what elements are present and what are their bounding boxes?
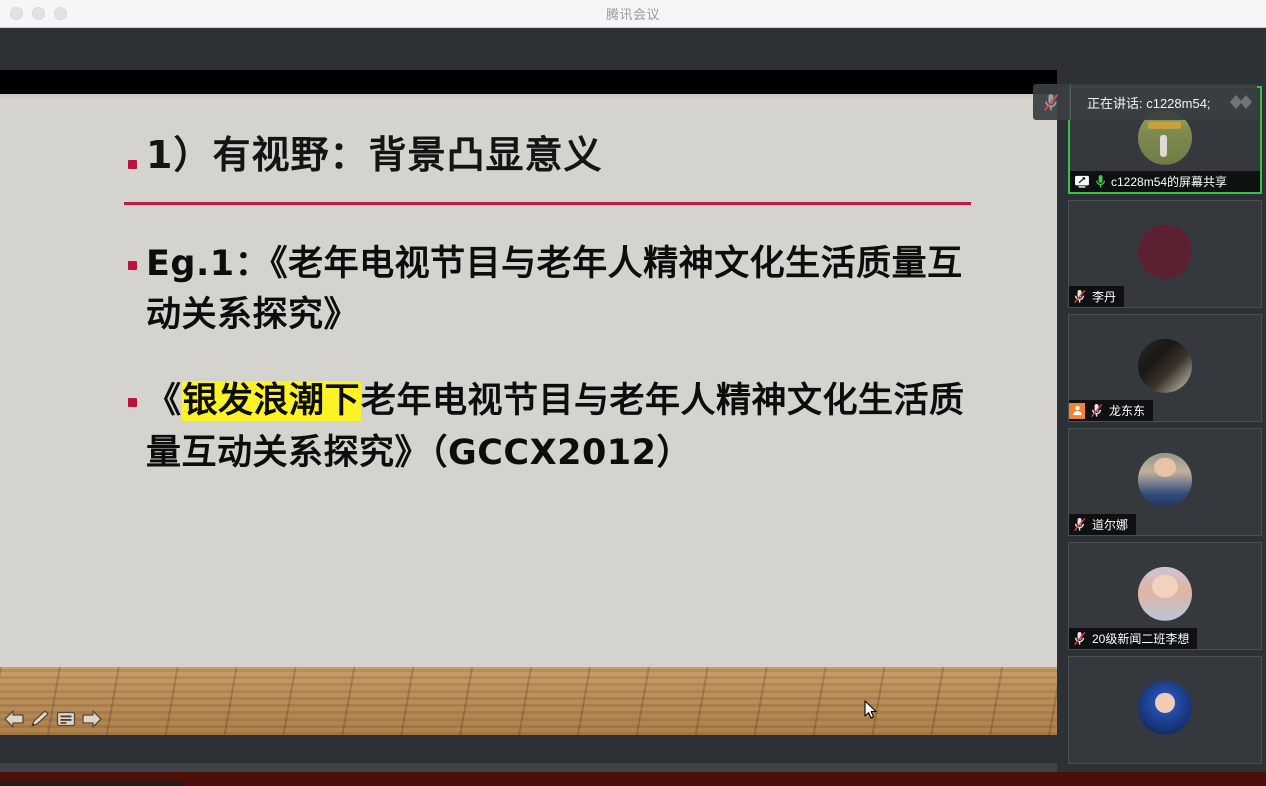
slide-bullet-2-suffix: 老年电视节目与老年人精神文化 [361,381,858,421]
maximize-button[interactable] [54,7,67,20]
active-speaker-banner[interactable]: 正在讲话: c1228m54; [1033,84,1257,120]
shared-screen-area[interactable]: 1）有视野：背景凸显意义 Eg.1：《老年电视节目与老年人精神文化生活质量互动关… [0,28,1057,786]
mouse-pointer-icon [864,700,878,725]
slide-bullet-1-text: Eg.1：《老年电视节目与老年人精神文化生活质量互动关系探究》 [146,239,976,343]
bullet-icon [128,398,137,407]
mic-muted-icon [1073,289,1087,304]
slide-bullet-2-prefix: 《 [146,381,182,421]
screen-share-status-tag: c1228m54的屏幕共享 [0,782,183,786]
participant-tile-daoerna[interactable]: 道尔娜 [1068,428,1262,536]
avatar [1138,567,1192,621]
slide-menu-icon[interactable] [54,708,78,730]
avatar [1138,681,1192,735]
participant-tile-longdongdong[interactable]: 龙东东 [1068,314,1262,422]
prev-slide-icon[interactable] [2,708,26,730]
slide-heading-row: 1）有视野：背景凸显意义 [128,132,999,180]
participant-tile-footer: 20级新闻二班李想 [1069,628,1197,649]
avatar [1138,225,1192,279]
slide-heading: 1）有视野：背景凸显意义 [146,132,602,180]
close-button[interactable] [10,7,23,20]
meeting-body: 1）有视野：背景凸显意义 Eg.1：《老年电视节目与老年人精神文化生活质量互动关… [0,28,1266,786]
participant-name: 20级新闻二班李想 [1092,630,1189,647]
participant-name: 龙东东 [1109,402,1145,419]
chevron-right-icon[interactable] [1227,91,1257,113]
bullet-icon [128,261,137,270]
window-traffic-lights [10,7,67,20]
next-slide-icon[interactable] [80,708,104,730]
minimize-button[interactable] [32,7,45,20]
screen-share-icon [1074,175,1090,188]
participant-tile-footer: 道尔娜 [1069,514,1136,535]
mic-muted-icon [1073,631,1087,646]
avatar [1138,339,1192,393]
participant-tile-footer: 龙东东 [1069,400,1153,421]
participant-tile-lixiang[interactable]: 20级新闻二班李想 [1068,542,1262,650]
pen-icon[interactable] [28,708,52,730]
mic-muted-icon [1033,84,1071,120]
slide-bullet-2-text: 《银发浪潮下老年电视节目与老年人精神文化生活质量互动关系探究》（GCCX2012… [146,376,976,480]
participant-tile-partial[interactable] [1068,656,1262,764]
mic-muted-icon [1090,403,1104,418]
bullet-icon [128,160,137,169]
presentation-slide: 1）有视野：背景凸显意义 Eg.1：《老年电视节目与老年人精神文化生活质量互动关… [0,94,1057,667]
slide-bullet-1: Eg.1：《老年电视节目与老年人精神文化生活质量互动关系探究》 [128,239,999,343]
participant-tile-footer: 李丹 [1069,286,1124,307]
participant-tile-lidan[interactable]: 李丹 [1068,200,1262,308]
mic-muted-icon [1073,517,1087,532]
presenter-toolbar[interactable] [2,708,104,730]
mic-on-icon [1095,174,1106,189]
participant-rail[interactable]: c1228m54的屏幕共享 李丹 [1057,28,1266,786]
avatar [1138,453,1192,507]
desktop-bottom-bar [0,772,1266,786]
participant-name: 李丹 [1092,288,1116,305]
window-title: 腾讯会议 [0,4,1266,23]
slide-bullet-2: 《银发浪潮下老年电视节目与老年人精神文化生活质量互动关系探究》（GCCX2012… [128,376,999,480]
tencent-meeting-window: 腾讯会议 1）有视野：背景凸显意义 Eg.1：《老年电 [0,0,1266,786]
slide-wood-background [0,667,1057,735]
slide-divider [124,202,971,205]
participant-name: 道尔娜 [1092,516,1128,533]
slide-bullet-2-highlight: 银发浪潮下 [182,381,362,421]
active-speaker-label: 正在讲话: c1228m54; [1071,93,1227,112]
host-person-icon [1069,403,1085,419]
participant-tile-footer: c1228m54的屏幕共享 [1070,171,1260,192]
slide-bullet-1-line1: Eg.1：《老年电视节目与老年人精神文化生活 [146,244,856,284]
participant-name: c1228m54的屏幕共享 [1111,173,1227,190]
window-title-bar: 腾讯会议 [0,0,1266,28]
